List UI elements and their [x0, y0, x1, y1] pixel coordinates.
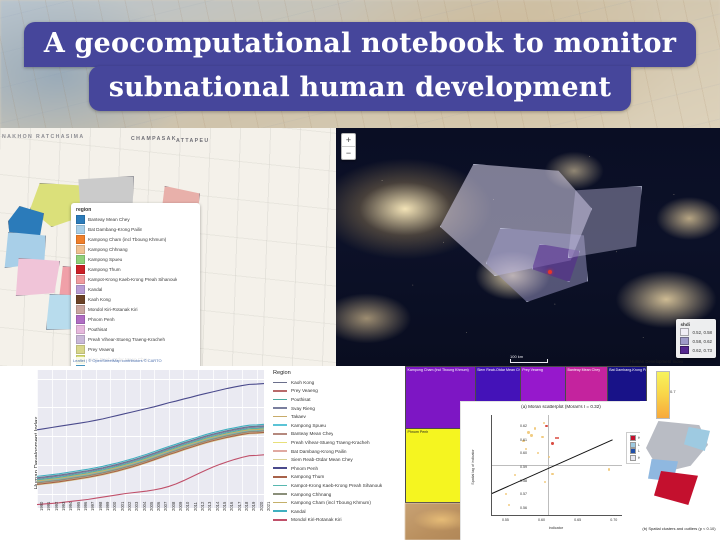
region-legend-item[interactable]: Prey Veaeng [76, 345, 195, 354]
line-legend-item[interactable]: Kampong Cham (incl Tboung Khmum) [270, 498, 404, 507]
treemap-cell-label: Prey Veaeng [521, 367, 566, 373]
region-legend-item[interactable]: Kampong Thum [76, 265, 195, 274]
x-tick-label: 2003 [134, 502, 139, 511]
x-tick-label: 2001 [120, 502, 125, 511]
scatter-point [551, 473, 553, 475]
legend-label: Preah Vihear-Stueng Traeng-Kracheh [291, 440, 370, 445]
shdi-legend-title: shdi [680, 322, 712, 327]
lisa-map-caption: (b) Spatial clusters and outliers (p < 0… [618, 526, 720, 531]
scatter-point [525, 448, 527, 450]
legend-label: Kampong Cham (incl Tboung Khmum) [291, 500, 371, 505]
legend-label: Kandal [291, 509, 306, 514]
legend-label: Pouthisat [88, 327, 107, 332]
scatter-point [541, 436, 543, 438]
x-tick-label: 2008 [171, 502, 176, 511]
x-tick-label: 2014 [215, 502, 220, 511]
x-tick-label: 0.55 [502, 518, 509, 522]
scatter-point [505, 493, 507, 495]
legend-swatch [76, 345, 85, 354]
moran-scatterplot-title: (a) Moran scatterplot (Moran's I = 0.32) [461, 404, 661, 409]
legend-line [273, 390, 287, 392]
legend-label: Siem Reab-Otdar Mean Chey [291, 457, 353, 462]
legend-swatch [630, 442, 636, 448]
legend-label: Mondol Kiri-Rotanak Kiri [88, 307, 138, 312]
line-legend-item[interactable]: Kampot-Krong Kaeb-Krong Preah Sihanouk [270, 481, 404, 490]
x-tick-label: 2010 [185, 502, 190, 511]
title-line-1: A geocomputational notebook to monitor [24, 22, 696, 67]
legend-line [273, 450, 287, 452]
legend-swatch [76, 255, 85, 264]
legend-line [273, 459, 287, 461]
shdi-legend-item: 0.62, 0.73 [680, 346, 712, 354]
legend-swatch [76, 245, 85, 254]
legend-label: Kampong Spueu [291, 423, 326, 428]
x-tick-label: 2004 [142, 502, 147, 511]
line-legend-item[interactable]: Pouthisat [270, 395, 404, 404]
legend-line [273, 493, 287, 495]
x-tick-label: 2009 [178, 502, 183, 511]
legend-line [273, 416, 287, 418]
treemap-cell-label: Bat Dambang-Krong Pailin [608, 367, 646, 373]
moran-plot-area [491, 415, 622, 516]
poster-page: A geocomputational notebook to monitor s… [0, 0, 720, 540]
x-tick-label: 2019 [251, 502, 256, 511]
moran-ylabel: Spatial lag of indicator [471, 437, 475, 497]
legend-line [273, 433, 287, 435]
legend-swatch [76, 295, 85, 304]
treemap-cell-label: Kampong Cham (incl Tboung Khmum) [406, 367, 476, 373]
colorbar-tick-label: 0.7 [670, 389, 676, 394]
nightlights-map-panel[interactable]: + − shdi 0.52, 0.580.58, 0.620.62, 0.73 … [336, 128, 720, 366]
scatter-point [544, 481, 546, 483]
legend-label: Bat Dambang-Krong Pailin [291, 449, 347, 454]
x-tick-label: 1995 [76, 502, 81, 511]
region-legend-item[interactable]: Preah Vihear-Stueng Traeng-Kracheh [76, 335, 195, 344]
y-tick-label: 0.62 [520, 424, 527, 428]
legend-label: Svay Rieng [291, 406, 315, 411]
scatter-point [530, 434, 532, 436]
legend-label: Mondol Kiri-Rotanak Kiri [291, 517, 342, 522]
moran-mean-vline [548, 415, 549, 515]
line-legend-item[interactable]: Siem Reab-Otdar Mean Chey [270, 455, 404, 464]
legend-label: Pouthisat [291, 397, 311, 402]
x-tick-label: 0.65 [574, 518, 581, 522]
hdi-line-chart: Human Development Index 0.30.40.50.60.7 … [0, 366, 268, 540]
legend-label: Takaev [291, 414, 306, 419]
legend-swatch [76, 225, 85, 234]
region-legend-item[interactable]: Kampong Spueu [76, 255, 195, 264]
legend-label: Kampong Spueu [88, 257, 122, 262]
legend-swatch [680, 346, 689, 354]
scatter-point [543, 422, 545, 424]
poster-title: A geocomputational notebook to monitor s… [0, 22, 720, 111]
place-label: NAKHON RATCHASIMA [2, 134, 85, 140]
place-label: ATTAPEU [176, 138, 210, 144]
moran-fit-line [492, 439, 613, 494]
legend-swatch [630, 435, 636, 441]
moran-xlabel: indicator [491, 526, 621, 530]
line-legend-item[interactable]: Kampong Chhnang [270, 490, 404, 499]
line-series [37, 384, 264, 430]
legend-label: Kampong Thum [88, 267, 121, 272]
region-legend-item[interactable]: Bat Dambang-Krong Pailin [76, 225, 195, 234]
legend-line [273, 485, 287, 487]
line-legend-item[interactable]: Kaoh Kong [270, 378, 404, 387]
line-chart-xticks: 1990199119921993199419951996199719981999… [37, 510, 264, 540]
line-legend-item[interactable]: Svay Rieng [270, 404, 404, 413]
x-tick-label: 2006 [156, 502, 161, 511]
region-legend-item[interactable]: Kandal [76, 285, 195, 294]
x-tick-label: 2011 [193, 502, 198, 511]
x-tick-label: 1998 [98, 502, 103, 511]
shdi-region-polygon[interactable] [568, 186, 642, 258]
region-legend-item[interactable]: Kampong Chhnang [76, 245, 195, 254]
legend-label: Kampot-Krong Kaeb-Krong Preah Sihanouk [291, 483, 382, 488]
scatter-point [551, 442, 553, 444]
x-tick-label: 2012 [200, 502, 205, 511]
legend-line [273, 407, 287, 409]
legend-label: Kandal [88, 287, 102, 292]
legend-swatch [76, 325, 85, 334]
legend-swatch [76, 235, 85, 244]
region-legend-title: region [76, 207, 195, 213]
region-legend-item[interactable]: Kaoh Kong [76, 295, 195, 304]
lisa-map-panel: x Human Development Index 0.7 (b) Spatia… [640, 401, 720, 540]
legend-line [273, 382, 287, 384]
legend-swatch [76, 215, 85, 224]
legend-label: Kampong Chhnang [88, 247, 128, 252]
x-tick-label: 1996 [83, 502, 88, 511]
shdi-legend-item: 0.58, 0.62 [680, 337, 712, 345]
line-legend-item[interactable]: Prey Veaeng [270, 387, 404, 396]
map-scalebar: 100 km [510, 354, 548, 363]
y-tick-label: 0.59 [520, 465, 527, 469]
legend-swatch [680, 328, 689, 336]
maps-row: NAKHON RATCHASIMA CHAMPASAK ATTAPEU regi… [0, 128, 720, 366]
legend-line [273, 424, 287, 426]
region-legend-item[interactable]: Kampot-Krong Kaeb-Krong Preah Sihanouk [76, 275, 195, 284]
legend-line [273, 399, 287, 401]
title-line-2: subnational human development [89, 66, 631, 111]
treemap-cell-label: Siem Reab-Otdar Mean Chey [476, 367, 521, 373]
x-tick-label: 2005 [149, 502, 154, 511]
legend-label: Prey Veaeng [88, 347, 114, 352]
x-tick-label: 2020 [259, 502, 264, 511]
line-legend-item[interactable]: Mondol Kiri-Rotanak Kiri [270, 516, 404, 525]
colorbar-title: Human Development Index [630, 359, 720, 364]
legend-label: Prey Veaeng [291, 388, 318, 393]
y-tick-label: 0.60 [520, 451, 527, 455]
legend-label: Kampong Cham (incl Tboung Khmum) [88, 237, 166, 242]
legend-label: 0.58, 0.62 [692, 339, 712, 344]
zoom-out-button[interactable]: − [342, 147, 355, 159]
x-tick-label: 0.60 [538, 518, 545, 522]
shdi-legend: shdi 0.52, 0.580.58, 0.620.62, 0.73 [676, 319, 716, 359]
y-tick-label: 0.56 [520, 506, 527, 510]
legend-label: Banteay Mean Chey [291, 431, 333, 436]
choropleth-map-panel[interactable]: NAKHON RATCHASIMA CHAMPASAK ATTAPEU regi… [0, 128, 336, 366]
x-tick-label: 2016 [229, 502, 234, 511]
line-legend-item[interactable]: Phnom Penh [270, 464, 404, 473]
legend-line [273, 502, 287, 504]
line-legend-item[interactable]: Preah Vihear-Stueng Traeng-Kracheh [270, 438, 404, 447]
legend-label: 0.52, 0.58 [692, 330, 712, 335]
legend-swatch [630, 455, 636, 461]
scatter-point [557, 437, 559, 439]
legend-label: Phnom Penh [88, 317, 115, 322]
place-label: CHAMPASAK [131, 136, 177, 142]
legend-label: Kampong Thum [291, 474, 324, 479]
scatter-point [537, 452, 539, 454]
legend-label: Banteay Mean Chey [88, 217, 130, 222]
lisa-zone-hh[interactable] [654, 471, 698, 505]
legend-swatch [76, 305, 85, 314]
legend-swatch [76, 265, 85, 274]
x-tick-label: 2018 [244, 502, 249, 511]
x-tick-label: 1997 [90, 502, 95, 511]
line-legend-item[interactable]: Bat Dambang-Krong Pailin [270, 447, 404, 456]
legend-label: Preah Vihear-Stueng Traeng-Kracheh [88, 337, 165, 342]
treemap-cell-label: Banteay Mean Chey [566, 367, 608, 373]
line-chart-legend: Region Kaoh KongPrey VeaengPouthisatSvay… [270, 368, 404, 518]
x-tick-label: 1993 [61, 502, 66, 511]
x-tick-label: 1999 [105, 502, 110, 511]
region-legend-item[interactable]: Kampong Cham (incl Tboung Khmum) [76, 235, 195, 244]
legend-line [273, 519, 287, 521]
line-legend-item[interactable]: Banteay Mean Chey [270, 430, 404, 439]
region-legend-item[interactable]: Banteay Mean Chey [76, 215, 195, 224]
moran-scatterplot-panel: (a) Moran scatterplot (Moran's I = 0.32)… [460, 401, 662, 540]
zoom-in-button[interactable]: + [342, 134, 355, 147]
analysis-row: Human Development Index 0.30.40.50.60.7 … [0, 366, 720, 540]
legend-line [273, 442, 287, 444]
region-legend-item[interactable]: Pouthisat [76, 325, 195, 334]
line-legend-item[interactable]: Kampong Thum [270, 473, 404, 482]
scatter-point [608, 468, 610, 470]
legend-label: Kampong Chhnang [291, 492, 331, 497]
region-legend-item[interactable]: Phnom Penh [76, 315, 195, 324]
scatter-point [545, 425, 547, 427]
region-polygon[interactable] [14, 258, 60, 296]
legend-label: 0.62, 0.73 [692, 348, 712, 353]
lisa-choropleth[interactable] [646, 419, 714, 505]
legend-swatch [630, 448, 636, 454]
scalebar-label: 100 km [510, 354, 523, 359]
x-tick-label: 2017 [237, 502, 242, 511]
x-tick-label: 2013 [207, 502, 212, 511]
x-tick-label: 2002 [127, 502, 132, 511]
legend-line [273, 467, 287, 469]
scatter-point [534, 427, 536, 429]
x-tick-label: 1994 [68, 502, 73, 511]
legend-swatch [76, 315, 85, 324]
legend-label: Kampot-Krong Kaeb-Krong Preah Sihanouk [88, 277, 177, 282]
x-tick-label: 2000 [112, 502, 117, 511]
capital-marker[interactable] [548, 270, 552, 274]
map-attribution[interactable]: Leaflet | © OpenStreetMap contributors ©… [71, 357, 194, 364]
scatter-point [508, 504, 510, 506]
line-chart-plot-area [37, 370, 264, 508]
y-tick-label: 0.57 [520, 492, 527, 496]
legend-line [273, 510, 287, 512]
x-tick-label: 1990 [39, 502, 44, 511]
legend-swatch [76, 275, 85, 284]
legend-label: Phnom Penh [291, 466, 318, 471]
line-chart-legend-title: Region [273, 370, 404, 376]
region-legend: region Banteay Mean CheyBat Dambang-Kron… [71, 203, 200, 366]
x-tick-label: 0.70 [610, 518, 617, 522]
x-tick-label: 2007 [163, 502, 168, 511]
line-legend-item[interactable]: Kandal [270, 507, 404, 516]
legend-label: Bat Dambang-Krong Pailin [88, 227, 142, 232]
y-tick-label: 0.61 [520, 438, 527, 442]
line-legend-item[interactable]: Takaev [270, 412, 404, 421]
x-tick-label: 1992 [54, 502, 59, 511]
map-zoom-controls[interactable]: + − [341, 133, 356, 160]
shdi-legend-item: 0.52, 0.58 [680, 328, 712, 336]
region-legend-item[interactable]: Mondol Kiri-Rotanak Kiri [76, 305, 195, 314]
x-tick-label: 2015 [222, 502, 227, 511]
legend-swatch [76, 285, 85, 294]
scatter-point [514, 474, 516, 476]
y-tick-label: 0.58 [520, 479, 527, 483]
legend-swatch [680, 337, 689, 345]
legend-label: Kaoh Kong [291, 380, 314, 385]
scalebar-bar [510, 359, 548, 363]
line-legend-item[interactable]: Kampong Spueu [270, 421, 404, 430]
legend-swatch [76, 335, 85, 344]
x-tick-label: 1991 [46, 502, 51, 511]
hdi-colorbar [656, 371, 670, 419]
legend-line [273, 476, 287, 478]
line-series-group [37, 370, 264, 508]
legend-label: Kaoh Kong [88, 297, 111, 302]
